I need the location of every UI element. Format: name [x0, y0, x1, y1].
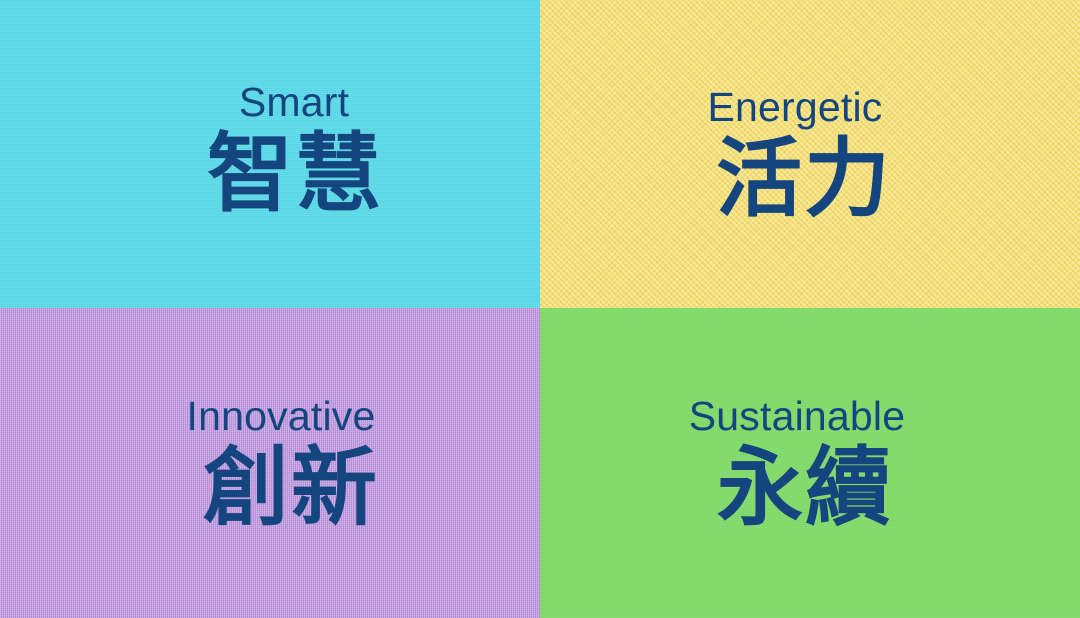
- label-zh-sustainable: 永續: [705, 445, 905, 531]
- word-block-sustainable: Sustainable 永續: [705, 396, 905, 531]
- label-en-sustainable: Sustainable: [689, 396, 905, 437]
- quadrant-grid: Smart 智慧 Energetic 活力 Innovative 創新 Sust…: [0, 0, 1080, 618]
- label-zh-energetic: 活力: [716, 136, 892, 222]
- quadrant-smart[interactable]: Smart 智慧: [0, 0, 540, 308]
- quadrant-sustainable[interactable]: Sustainable 永續: [540, 308, 1080, 618]
- word-block-innovative: Innovative 創新: [203, 396, 379, 531]
- label-en-innovative: Innovative: [183, 396, 379, 437]
- quadrant-energetic[interactable]: Energetic 活力: [540, 0, 1080, 308]
- label-en-smart: Smart: [205, 82, 383, 123]
- word-block-smart: Smart 智慧: [207, 82, 383, 217]
- word-block-energetic: Energetic 活力: [716, 87, 892, 222]
- label-zh-innovative: 創新: [203, 445, 379, 531]
- label-en-energetic: Energetic: [698, 87, 892, 128]
- quadrant-innovative[interactable]: Innovative 創新: [0, 308, 540, 618]
- label-zh-smart: 智慧: [207, 131, 383, 217]
- brand-values-board: Smart 智慧 Energetic 活力 Innovative 創新 Sust…: [0, 0, 1080, 618]
